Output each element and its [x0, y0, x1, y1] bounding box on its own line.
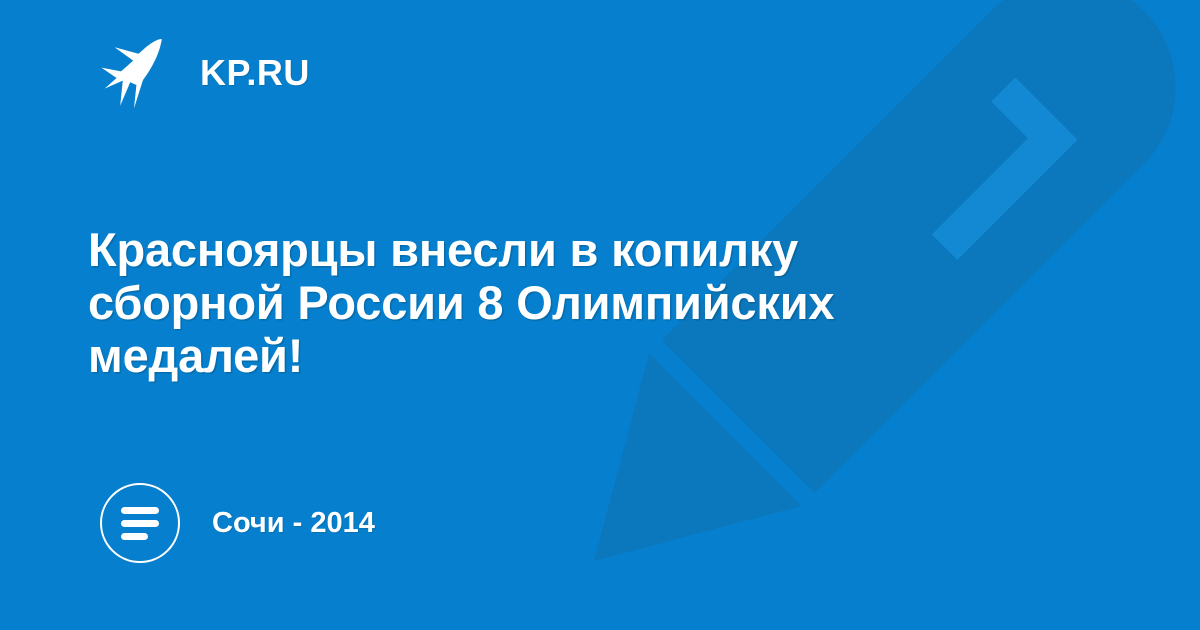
- headline-line-3: медалей!: [88, 329, 1048, 382]
- hamburger-bar-bottom: [121, 533, 148, 540]
- page-title: Красноярцы внесли в копилку сборной Росс…: [88, 223, 1048, 382]
- share-card: KP.RU Красноярцы внесли в копилку сборно…: [0, 0, 1200, 630]
- section-label[interactable]: Сочи - 2014: [212, 509, 375, 538]
- headline-line-2: сборной России 8 Олимпийских: [88, 276, 1048, 329]
- hamburger-menu-icon[interactable]: [100, 483, 180, 563]
- hamburger-bar-top: [121, 507, 159, 514]
- swallow-bird-icon: [100, 36, 172, 110]
- headline-line-1: Красноярцы внесли в копилку: [88, 223, 1048, 276]
- hamburger-bar-middle: [121, 520, 159, 527]
- brand-row: KP.RU: [100, 34, 310, 112]
- brand-name[interactable]: KP.RU: [200, 55, 310, 91]
- footer-row: Сочи - 2014: [100, 483, 375, 563]
